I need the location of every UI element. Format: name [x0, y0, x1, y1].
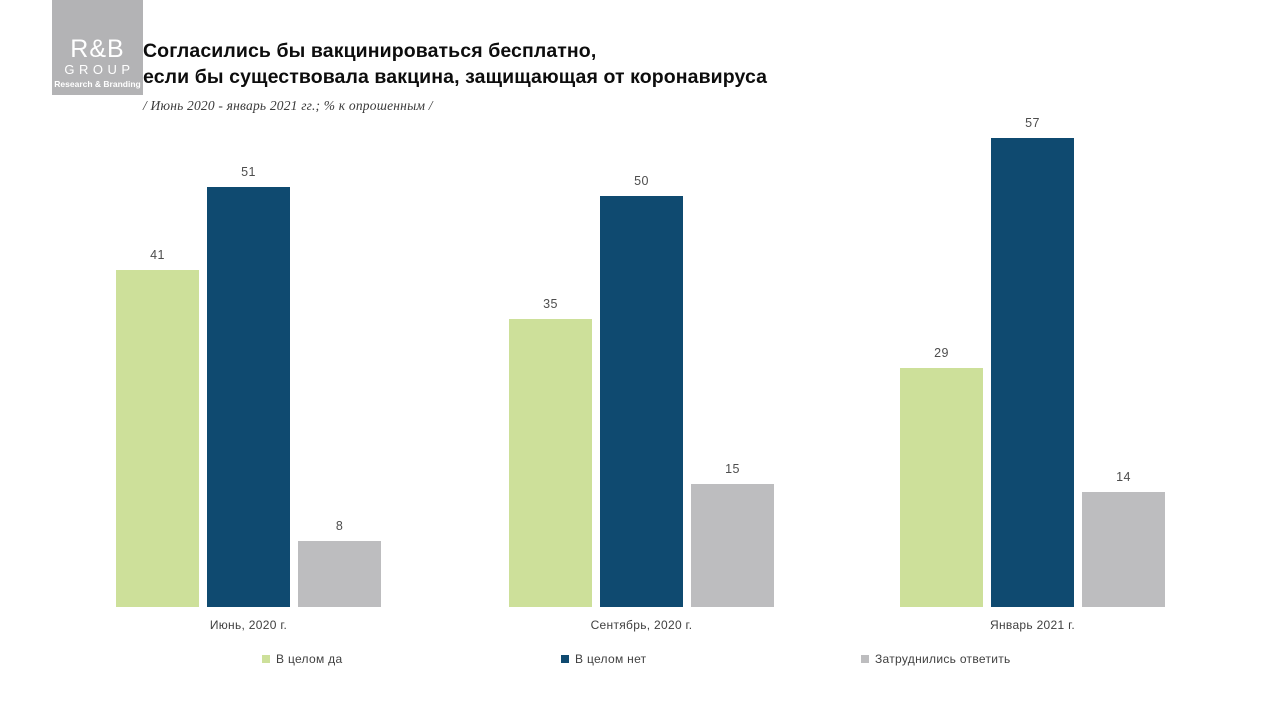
- bar-3-1: [900, 368, 983, 607]
- bar-3-2: [991, 138, 1074, 607]
- bar-1-2: [207, 187, 290, 607]
- bar-2-2: [600, 196, 683, 608]
- bar-value-label: 35: [509, 297, 592, 311]
- bar-value-label: 41: [116, 248, 199, 262]
- bar-value-label: 15: [691, 462, 774, 476]
- bar-1-1: [116, 270, 199, 607]
- bar-3-3: [1082, 492, 1165, 607]
- bar-value-label: 57: [991, 116, 1074, 130]
- bar-value-label: 29: [900, 346, 983, 360]
- legend-swatch-icon: [262, 655, 270, 663]
- bar-value-label: 8: [298, 519, 381, 533]
- legend-swatch-icon: [561, 655, 569, 663]
- legend-label: Затруднились ответить: [875, 652, 1011, 666]
- bar-value-label: 51: [207, 165, 290, 179]
- legend-swatch-icon: [861, 655, 869, 663]
- legend-label: В целом да: [276, 652, 342, 666]
- bar-value-label: 50: [600, 174, 683, 188]
- category-label-2: Сентябрь, 2020 г.: [509, 618, 774, 632]
- bar-chart-plot-area: 41518Июнь, 2020 г.355015Сентябрь, 2020 г…: [0, 0, 1280, 720]
- bar-1-3: [298, 541, 381, 607]
- bar-value-label: 14: [1082, 470, 1165, 484]
- category-label-3: Январь 2021 г.: [900, 618, 1165, 632]
- bar-2-3: [691, 484, 774, 607]
- category-label-1: Июнь, 2020 г.: [116, 618, 381, 632]
- chart-legend: В целом даВ целом нетЗатруднились ответи…: [0, 652, 1280, 672]
- legend-label: В целом нет: [575, 652, 646, 666]
- legend-item-2[interactable]: В целом нет: [561, 652, 646, 666]
- legend-item-3[interactable]: Затруднились ответить: [861, 652, 1011, 666]
- legend-item-1[interactable]: В целом да: [262, 652, 342, 666]
- bar-2-1: [509, 319, 592, 607]
